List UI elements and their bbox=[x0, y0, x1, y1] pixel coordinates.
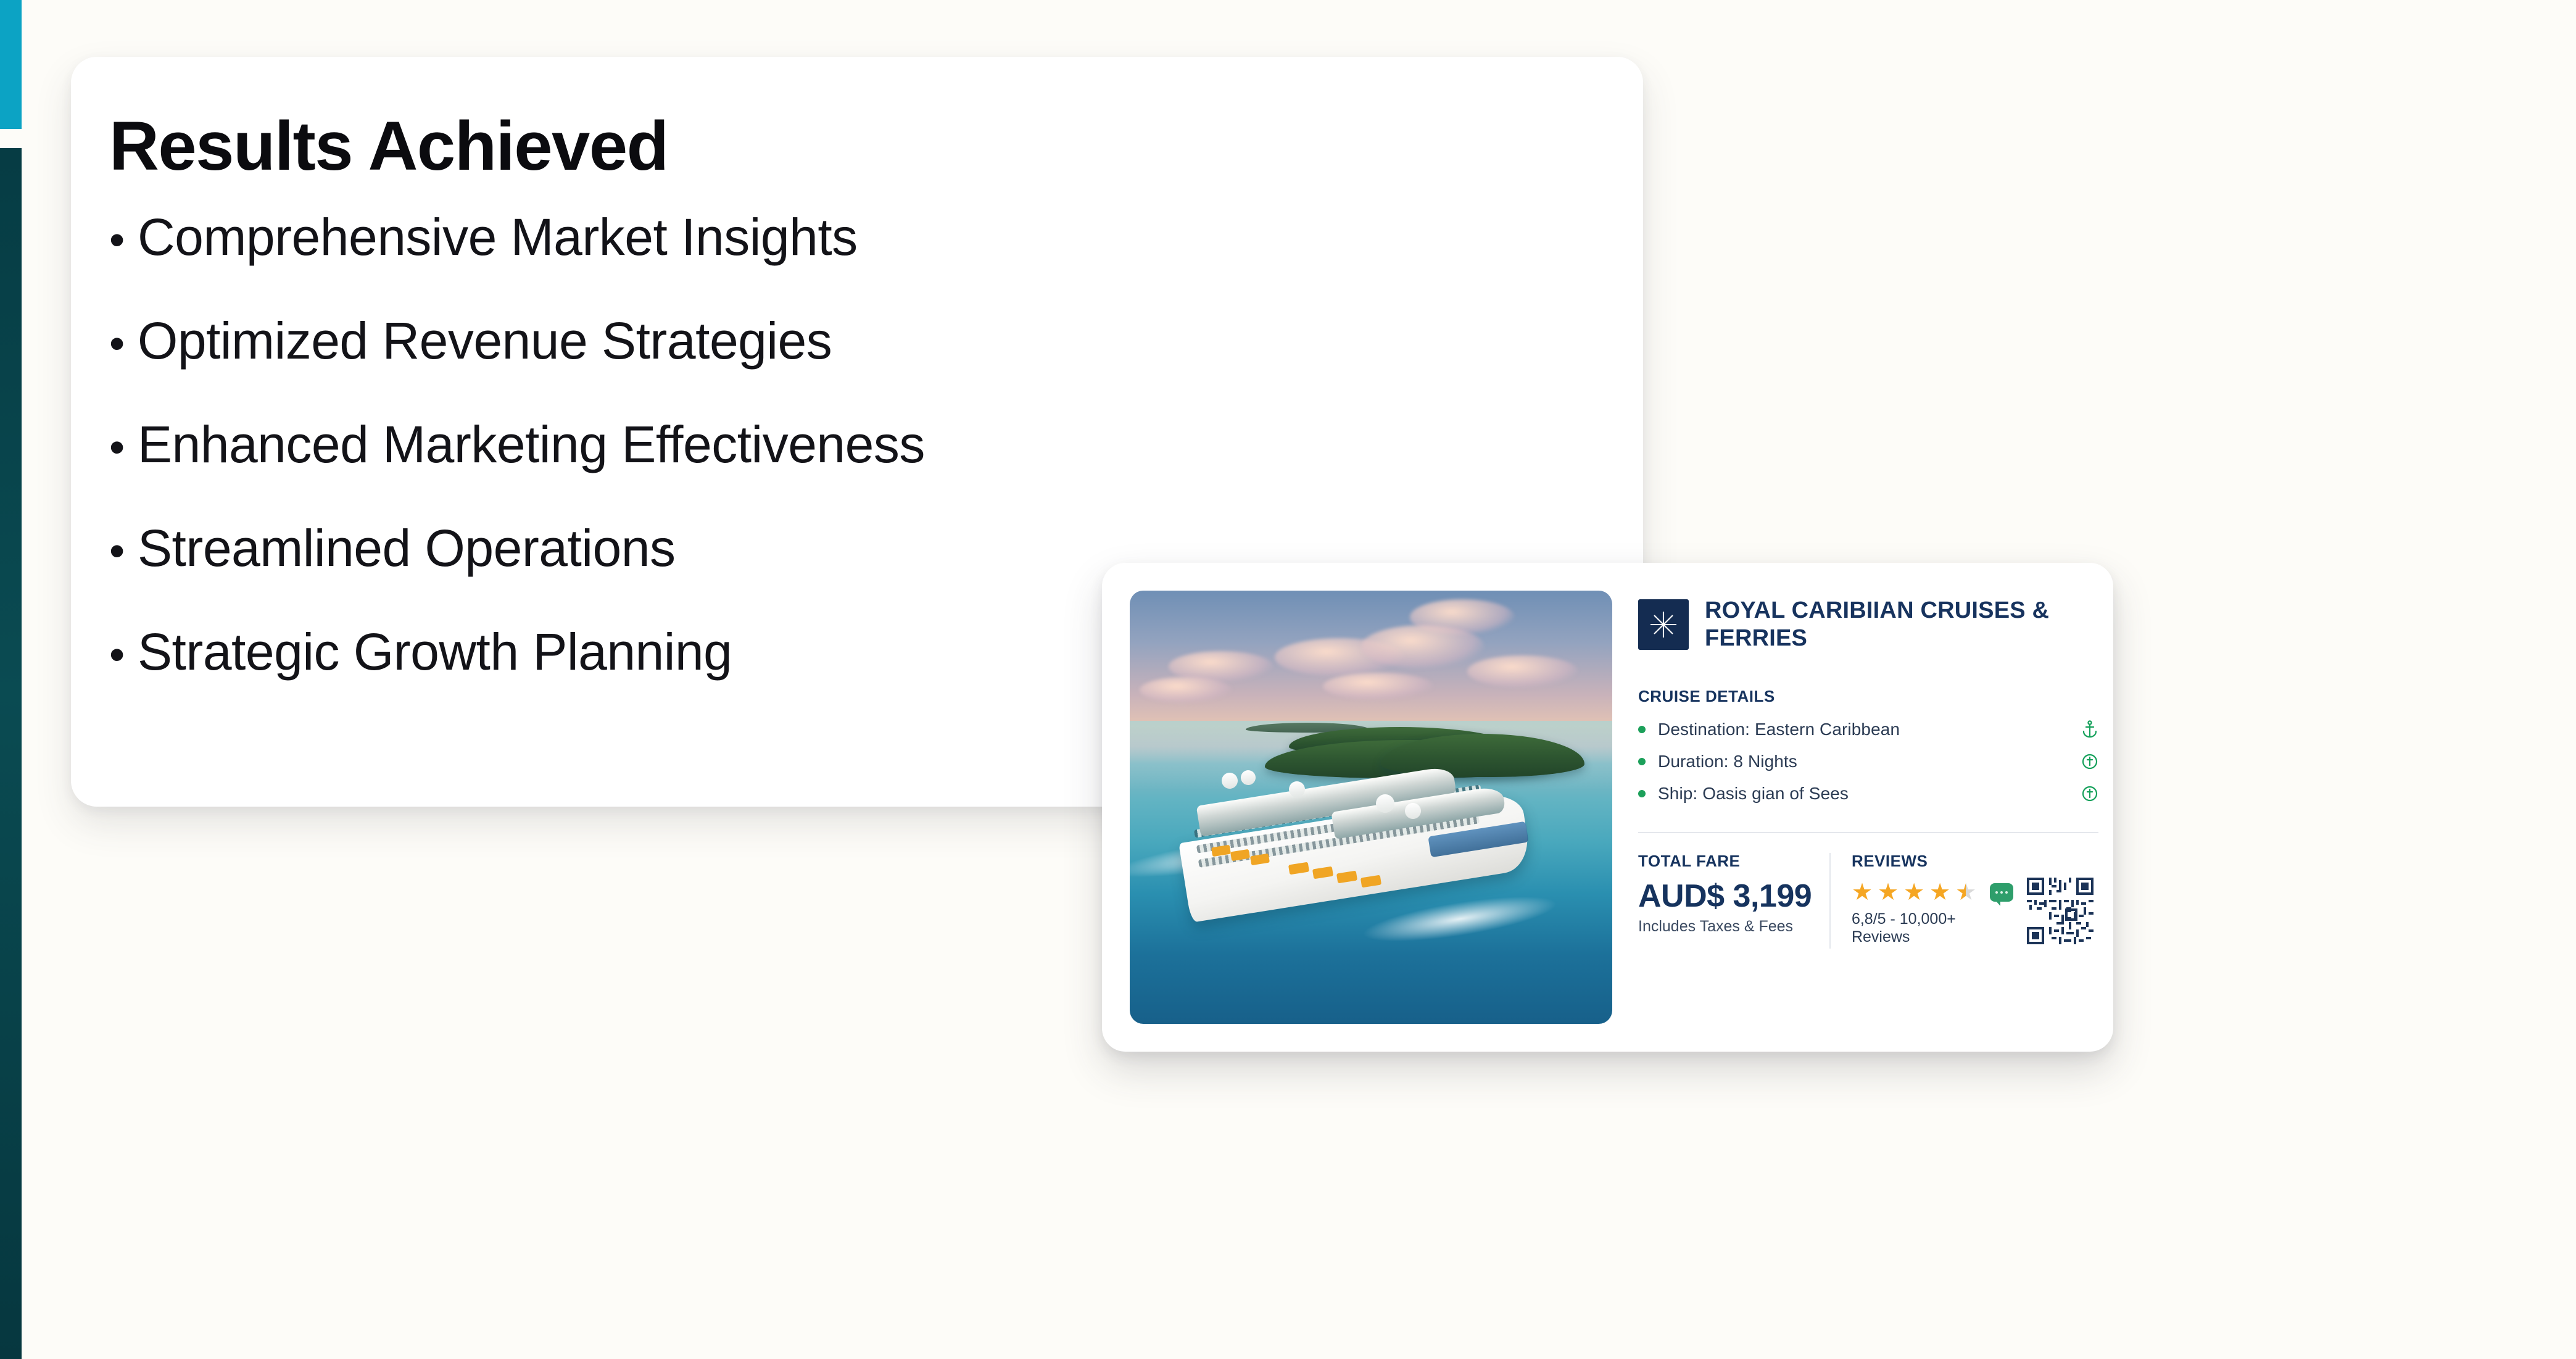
anchor-icon bbox=[2071, 720, 2098, 739]
star-icon: ★ bbox=[1852, 881, 1873, 904]
bullet-dot-icon: • bbox=[109, 529, 138, 573]
cyan-accent-strip bbox=[0, 0, 22, 129]
bullet-dot-icon bbox=[1638, 790, 1646, 797]
cruise-info-column: ROYAL CARIBIIAN CRUISES & FERRIES CRUISE… bbox=[1638, 591, 2098, 1024]
total-fare-note: Includes Taxes & Fees bbox=[1638, 918, 1823, 936]
star-half-icon: ★ bbox=[1955, 881, 1976, 904]
rating-stars: ★ ★ ★ ★ ★ bbox=[1852, 881, 2013, 904]
list-item: Ship: Oasis gian of Sees bbox=[1638, 784, 2098, 804]
list-item: • Optimized Revenue Strategies bbox=[109, 315, 1643, 367]
detail-label: Ship: Oasis gian of Sees bbox=[1658, 784, 2071, 804]
detail-label: Duration: 8 Nights bbox=[1658, 752, 2071, 771]
total-fare-amount: AUD$ 3,199 bbox=[1638, 879, 1823, 913]
cruise-offer-card[interactable]: ROYAL CARIBIIAN CRUISES & FERRIES CRUISE… bbox=[1102, 563, 2113, 1052]
star-icon: ★ bbox=[1903, 881, 1924, 904]
star-icon: ★ bbox=[1878, 881, 1899, 904]
list-item-label: Comprehensive Market Insights bbox=[138, 211, 858, 263]
compass-star-icon bbox=[1638, 599, 1689, 650]
list-item: Destination: Eastern Caribbean bbox=[1638, 720, 2098, 739]
bullet-dot-icon: • bbox=[109, 633, 138, 677]
bullet-dot-icon: • bbox=[109, 425, 138, 470]
teal-accent-strip bbox=[0, 148, 22, 1359]
cruise-ship-photo bbox=[1130, 591, 1612, 1024]
bullet-dot-icon bbox=[1638, 758, 1646, 765]
total-fare-block: TOTAL FARE AUD$ 3,199 Includes Taxes & F… bbox=[1638, 852, 1823, 936]
total-fare-heading: TOTAL FARE bbox=[1638, 852, 1823, 871]
cruise-details-list: Destination: Eastern Caribbean Duration:… bbox=[1638, 720, 2098, 816]
clock-circle-icon bbox=[2071, 753, 2098, 770]
bullet-dot-icon: • bbox=[109, 322, 138, 366]
reviews-block: REVIEWS ★ ★ ★ ★ ★ 6,8/5 - 10,000+ Review… bbox=[1852, 852, 2013, 946]
star-icon: ★ bbox=[1929, 881, 1950, 904]
list-item-label: Enhanced Marketing Effectiveness bbox=[138, 418, 925, 470]
chat-bubble-icon bbox=[1990, 883, 2013, 902]
list-item: • Comprehensive Market Insights bbox=[109, 211, 1643, 263]
list-item-label: Strategic Growth Planning bbox=[138, 626, 732, 678]
list-item: Duration: 8 Nights bbox=[1638, 752, 2098, 771]
bullet-dot-icon: • bbox=[109, 218, 138, 262]
list-item-label: Streamlined Operations bbox=[138, 522, 675, 574]
page-title: Results Achieved bbox=[109, 110, 1643, 183]
detail-label: Destination: Eastern Caribbean bbox=[1658, 720, 2071, 739]
cruise-details-heading: CRUISE DETAILS bbox=[1638, 687, 2098, 706]
section-divider bbox=[1638, 832, 2098, 833]
brand-header: ROYAL CARIBIIAN CRUISES & FERRIES bbox=[1638, 597, 2098, 652]
slide-canvas: Results Achieved • Comprehensive Market … bbox=[0, 0, 2576, 1359]
bullet-dot-icon bbox=[1638, 726, 1646, 733]
reviews-heading: REVIEWS bbox=[1852, 852, 2013, 871]
qr-code-icon[interactable] bbox=[2024, 875, 2096, 947]
reviews-meta: 6,8/5 - 10,000+ Reviews bbox=[1852, 910, 2013, 946]
list-item-label: Optimized Revenue Strategies bbox=[138, 315, 832, 367]
qr-code-block[interactable] bbox=[2024, 852, 2098, 950]
compass-star-glyph bbox=[1649, 610, 1678, 639]
clock-circle-icon bbox=[2071, 785, 2098, 802]
vertical-divider bbox=[1829, 853, 1831, 949]
list-item: • Enhanced Marketing Effectiveness bbox=[109, 418, 1643, 470]
fare-and-reviews-row: TOTAL FARE AUD$ 3,199 Includes Taxes & F… bbox=[1638, 852, 2098, 950]
brand-name: ROYAL CARIBIIAN CRUISES & FERRIES bbox=[1705, 597, 2050, 652]
